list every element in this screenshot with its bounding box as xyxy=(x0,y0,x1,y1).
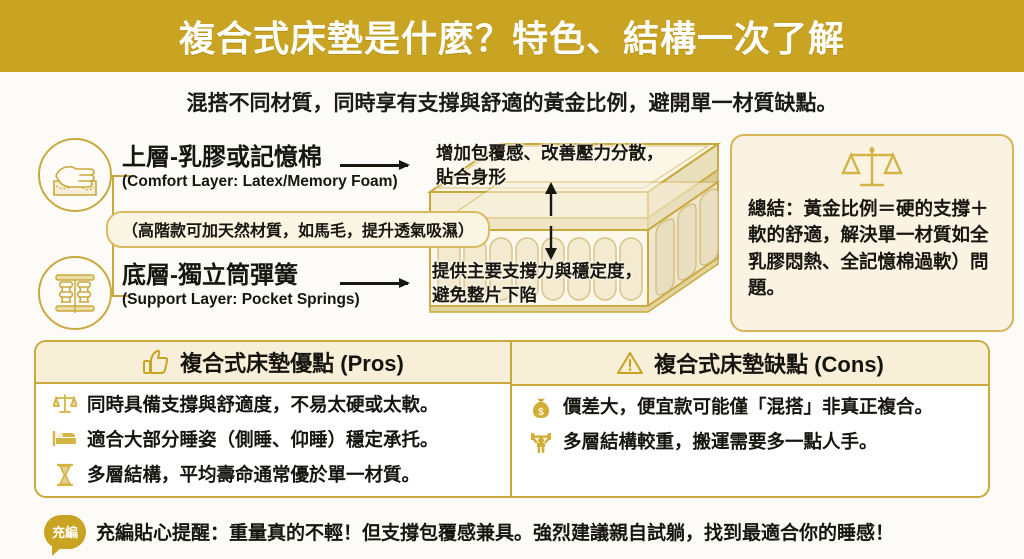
svg-text:$: $ xyxy=(538,407,544,418)
footer-note: 充編貼心提醒：重量真的不輕！但支撐包覆感兼具。強烈建議親自試躺，找到最適合你的睡… xyxy=(96,518,894,545)
list-item-text: 適合大部分睡姿（側睡、仰睡）穩定承托。 xyxy=(87,426,439,455)
subtitle-text: 混搭不同材質，同時享有支撐與舒適的黃金比例，避開單一材質缺點。 xyxy=(187,87,838,117)
cons-list: $ 價差大，便宜款可能僅「混搭」非真正複合。 xyxy=(512,386,988,463)
support-layer-title-en: (Support Layer: Pocket Springs) xyxy=(122,291,360,309)
list-item: 多層結構，平均壽命通常優於單一材質。 xyxy=(52,461,500,492)
weightlifter-icon xyxy=(528,428,554,454)
footer-bar: 充編 充編貼心提醒：重量真的不輕！但支撐包覆感兼具。強烈建議親自試躺，找到最適合… xyxy=(0,504,1024,559)
thumbs-up-icon xyxy=(142,348,170,376)
comfort-layer-title-en: (Comfort Layer: Latex/Memory Foam) xyxy=(122,173,398,191)
arrow-up-icon xyxy=(544,182,558,221)
list-item: 多層結構較重，搬運需要多一點人手。 xyxy=(528,428,978,459)
list-item: $ 價差大，便宜款可能僅「混搭」非真正複合。 xyxy=(528,393,978,424)
comfort-layer-label: 上層-乳膠或記憶棉 (Comfort Layer: Latex/Memory F… xyxy=(122,144,398,191)
list-item-text: 價差大，便宜款可能僅「混搭」非真正複合。 xyxy=(563,393,933,422)
summary-box: 總結：黃金比例＝硬的支撐＋軟的舒適，解決單一材質如全乳膠悶熱、全記憶棉過軟）問題… xyxy=(730,134,1014,332)
pros-column: 複合式床墊優點 (Pros) 同時具備支 xyxy=(36,342,512,496)
cons-column: 複合式床墊缺點 (Cons) $ 價差大，便宜款可能僅「混搭」非真正複合。 xyxy=(512,342,988,496)
editor-badge: 充編 xyxy=(44,515,86,549)
header-band: 複合式床墊是什麼？特色、結構一次了解 xyxy=(0,0,1024,72)
balance-scale-icon xyxy=(52,391,78,415)
arrow-to-comfort-annotation xyxy=(340,164,408,167)
hand-pressing-foam-icon xyxy=(48,148,102,202)
list-item-text: 同時具備支撐與舒適度，不易太硬或太軟。 xyxy=(87,391,439,420)
pros-list: 同時具備支撐與舒適度，不易太硬或太軟。 適合大部分睡姿（側睡、仰睡）穩定承托。 xyxy=(36,384,510,496)
pros-heading: 複合式床墊優點 (Pros) xyxy=(180,346,404,378)
summary-text: 總結：黃金比例＝硬的支撐＋軟的舒適，解決單一材質如全乳膠悶熱、全記憶棉過軟）問題… xyxy=(748,196,996,301)
cons-heading: 複合式床墊缺點 (Cons) xyxy=(654,347,884,379)
warning-triangle-icon xyxy=(616,349,644,377)
cons-header: 複合式床墊缺點 (Cons) xyxy=(512,342,988,386)
list-item-text: 多層結構，平均壽命通常優於單一材質。 xyxy=(87,461,420,490)
list-item: 適合大部分睡姿（側睡、仰睡）穩定承托。 xyxy=(52,426,500,457)
pros-cons-panel: 複合式床墊優點 (Pros) 同時具備支 xyxy=(34,340,990,498)
pros-header: 複合式床墊優點 (Pros) xyxy=(36,342,510,384)
arrow-to-support-annotation xyxy=(340,282,408,285)
list-item: 同時具備支撐與舒適度，不易太硬或太軟。 xyxy=(52,391,500,422)
infographic-page: 複合式床墊是什麼？特色、結構一次了解 混搭不同材質，同時享有支撐與舒適的黃金比例… xyxy=(0,0,1024,559)
page-title: 複合式床墊是什麼？特色、結構一次了解 xyxy=(179,10,845,62)
natural-material-note: （高階款可加天然材質，如馬毛，提升透氣吸濕） xyxy=(106,211,490,248)
comfort-layer-title-zh: 上層-乳膠或記憶棉 xyxy=(122,144,398,172)
support-layer-annotation: 提供主要支撐力與穩定度， 避免整片下陷 xyxy=(432,260,642,307)
list-item-text: 多層結構較重，搬運需要多一點人手。 xyxy=(563,428,878,457)
summary-icon-wrap xyxy=(748,144,996,196)
balance-scale-icon xyxy=(841,144,903,192)
money-bag-icon: $ xyxy=(528,393,554,419)
editor-badge-text: 充編 xyxy=(52,522,78,541)
comfort-layer-icon-circle xyxy=(38,138,112,212)
pocket-spring-coils-icon xyxy=(49,267,101,319)
support-layer-icon-circle xyxy=(38,256,112,330)
subtitle-row: 混搭不同材質，同時享有支撐與舒適的黃金比例，避開單一材質缺點。 xyxy=(0,78,1024,126)
hourglass-icon xyxy=(52,461,78,487)
arrow-down-icon xyxy=(544,226,558,265)
support-layer-title-zh: 底層-獨立筒彈簧 xyxy=(122,262,360,290)
bed-icon xyxy=(52,426,78,448)
support-layer-label: 底層-獨立筒彈簧 (Support Layer: Pocket Springs) xyxy=(122,262,360,309)
